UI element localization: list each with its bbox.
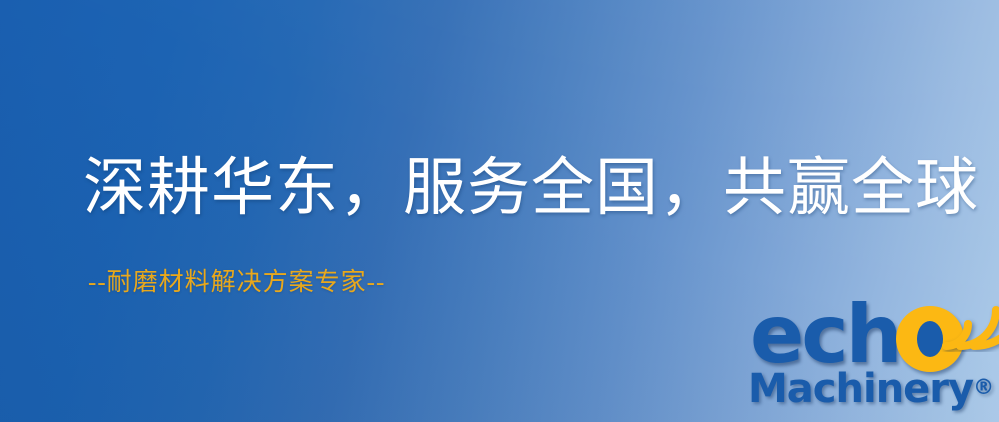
logo-machinery-label: Machinery — [748, 366, 973, 412]
hero-banner: 深耕华东，服务全国，共赢全球 --耐磨材料解决方案专家-- ech Ma — [0, 0, 999, 422]
logo-machinery-text: Machinery® — [748, 366, 994, 412]
logo-registered-mark: ® — [973, 375, 994, 399]
banner-headline: 深耕华东，服务全国，共赢全球 — [83, 152, 979, 224]
echo-waves-icon — [940, 286, 999, 352]
banner-subtitle: --耐磨材料解决方案专家-- — [88, 268, 385, 298]
company-logo: ech Machinery® — [744, 296, 999, 422]
logo-wordmark: ech — [744, 296, 999, 372]
